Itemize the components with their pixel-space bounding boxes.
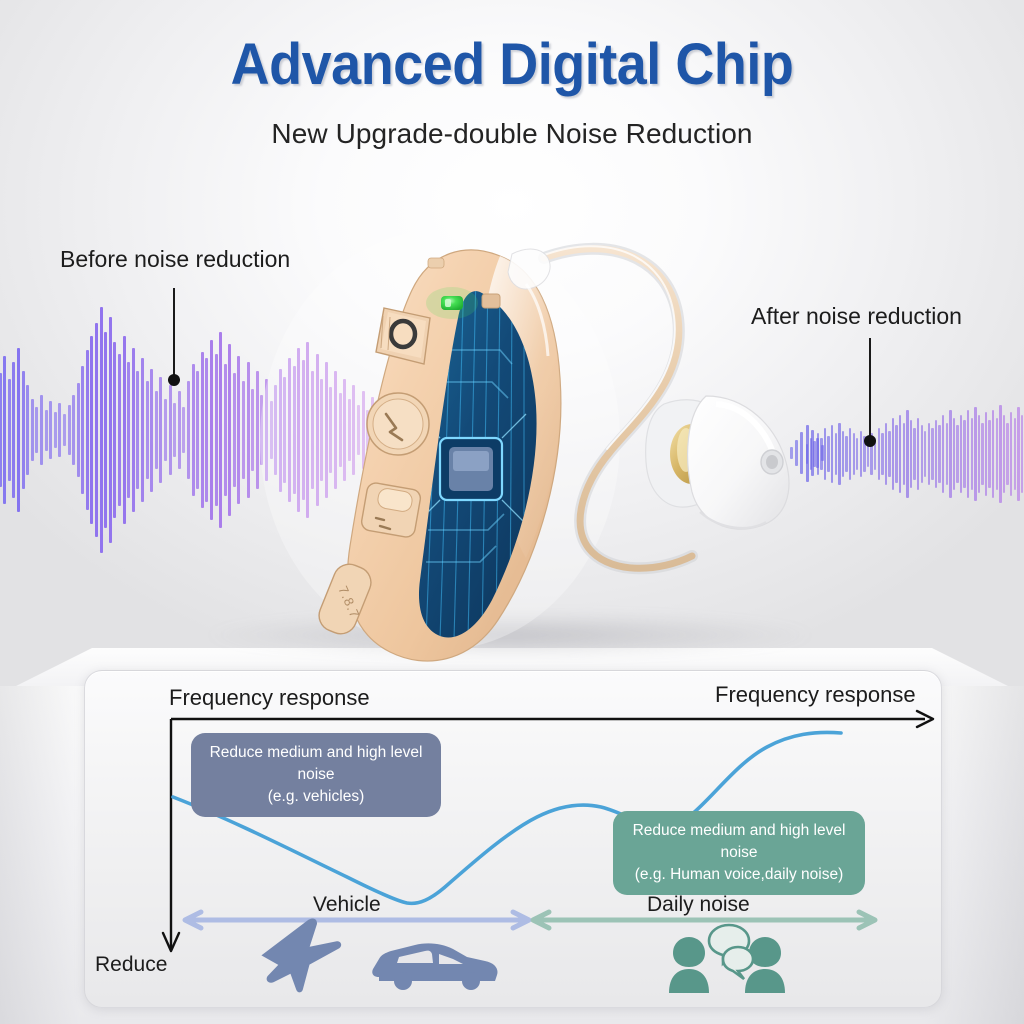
waveform-bar (996, 418, 998, 491)
waveform-bar (49, 401, 52, 458)
waveform-bar (45, 410, 48, 451)
waveform-bar (17, 348, 20, 512)
waveform-bar (100, 307, 103, 553)
page-subtitle: New Upgrade-double Noise Reduction (0, 118, 1024, 150)
y-axis-arrow (163, 719, 179, 951)
waveform-bar (81, 366, 84, 493)
callout-daily-line1: Reduce medium and high level noise (633, 822, 846, 861)
waveform-bar (946, 423, 948, 485)
waveform-bar (974, 407, 976, 501)
callout-daily-line2: (e.g. Human voice,daily noise) (635, 866, 844, 883)
waveform-bar (113, 342, 116, 518)
waveform-bar (917, 418, 919, 491)
waveform-bar (985, 412, 987, 495)
waveform-bar (906, 410, 908, 498)
waveform-bar (1003, 415, 1005, 493)
waveform-bar (931, 428, 933, 480)
waveform-bar (95, 323, 98, 536)
waveform-bar (8, 379, 11, 482)
segment-label-vehicle: Vehicle (313, 893, 381, 917)
waveform-bar (12, 362, 15, 497)
callout-vehicle: Reduce medium and high level noise (e.g.… (191, 733, 441, 817)
waveform-bar (26, 385, 29, 475)
waveform-bar (938, 425, 940, 482)
waveform-bar (988, 420, 990, 488)
waveform-bar (999, 405, 1001, 504)
waveform-bar (90, 336, 93, 525)
y-axis-title: Reduce (95, 953, 167, 977)
waveform-bar (949, 410, 951, 498)
waveform-bar (1017, 407, 1019, 501)
waveform-bar (54, 412, 57, 449)
waveform-bar (921, 425, 923, 482)
waveform-bar (68, 405, 71, 454)
waveform-bar (58, 403, 61, 456)
callout-vehicle-line2: (e.g. vehicles) (268, 788, 364, 805)
waveform-bar (0, 373, 2, 488)
waveform-bar (981, 423, 983, 485)
chart-inner: Frequency response Reduce Reduce medium … (85, 671, 941, 1007)
callout-daily: Reduce medium and high level noise (e.g.… (613, 811, 865, 895)
volume-slider (360, 482, 422, 539)
segment-label-daily: Daily noise (647, 893, 750, 917)
waveform-bar (910, 420, 912, 488)
waveform-bar (3, 356, 6, 504)
waveform-bar (132, 348, 135, 512)
waveform-bar (967, 410, 969, 498)
waveform-bar (72, 395, 75, 465)
status-led-indicator (426, 287, 478, 319)
eartip-assembly (646, 396, 789, 529)
pedestal-left-shading (0, 686, 80, 1024)
waveform-bar (86, 350, 89, 510)
waveform-bar (63, 414, 66, 447)
product-photo: 7.8.7 (140, 200, 900, 670)
people-talking-icon (669, 925, 785, 993)
product-infographic: Advanced Digital Chip New Upgrade-double… (0, 0, 1024, 1024)
waveform-bar (960, 415, 962, 493)
waveform-bar (971, 418, 973, 491)
waveform-bar (109, 317, 112, 543)
waveform-bar (992, 410, 994, 498)
waveform-bar (953, 418, 955, 491)
top-vent (428, 258, 444, 268)
waveform-bar (1021, 415, 1023, 493)
waveform-bar (963, 420, 965, 488)
waveform-bar (127, 362, 130, 497)
waveform-bar (77, 383, 80, 477)
airplane-icon (252, 912, 352, 1002)
chart-title: Frequency response (715, 682, 916, 708)
x-axis-arrow (171, 711, 933, 727)
waveform-bar (1006, 423, 1008, 485)
callout-vehicle-line1: Reduce medium and high level noise (210, 744, 423, 783)
x-axis-title: Frequency response (169, 685, 370, 711)
waveform-bar (942, 415, 944, 493)
chip-graphic (440, 438, 502, 500)
waveform-bar (1014, 418, 1016, 491)
waveform-bar (935, 420, 937, 488)
waveform-bar (136, 371, 139, 490)
microphone-port (482, 294, 500, 308)
waveform-bar (40, 395, 43, 465)
waveform-bar (924, 431, 926, 478)
header: Advanced Digital Chip New Upgrade-double… (0, 36, 1024, 150)
waveform-bar (903, 423, 905, 485)
waveform-bar (913, 428, 915, 480)
car-icon (372, 943, 497, 990)
waveform-bar (1010, 412, 1012, 495)
page-title: Advanced Digital Chip (36, 36, 988, 94)
frequency-response-chart-card: Frequency response Reduce Reduce medium … (84, 670, 942, 1008)
waveform-bar (928, 423, 930, 485)
multifunction-button (367, 393, 429, 455)
waveform-bar (118, 354, 121, 506)
waveform-bar (978, 415, 980, 493)
waveform-bar (104, 332, 107, 529)
waveform-bar (35, 407, 38, 452)
waveform-bar (123, 336, 126, 525)
waveform-bar (956, 425, 958, 482)
waveform-bar (31, 399, 34, 461)
waveform-bar (22, 371, 25, 490)
